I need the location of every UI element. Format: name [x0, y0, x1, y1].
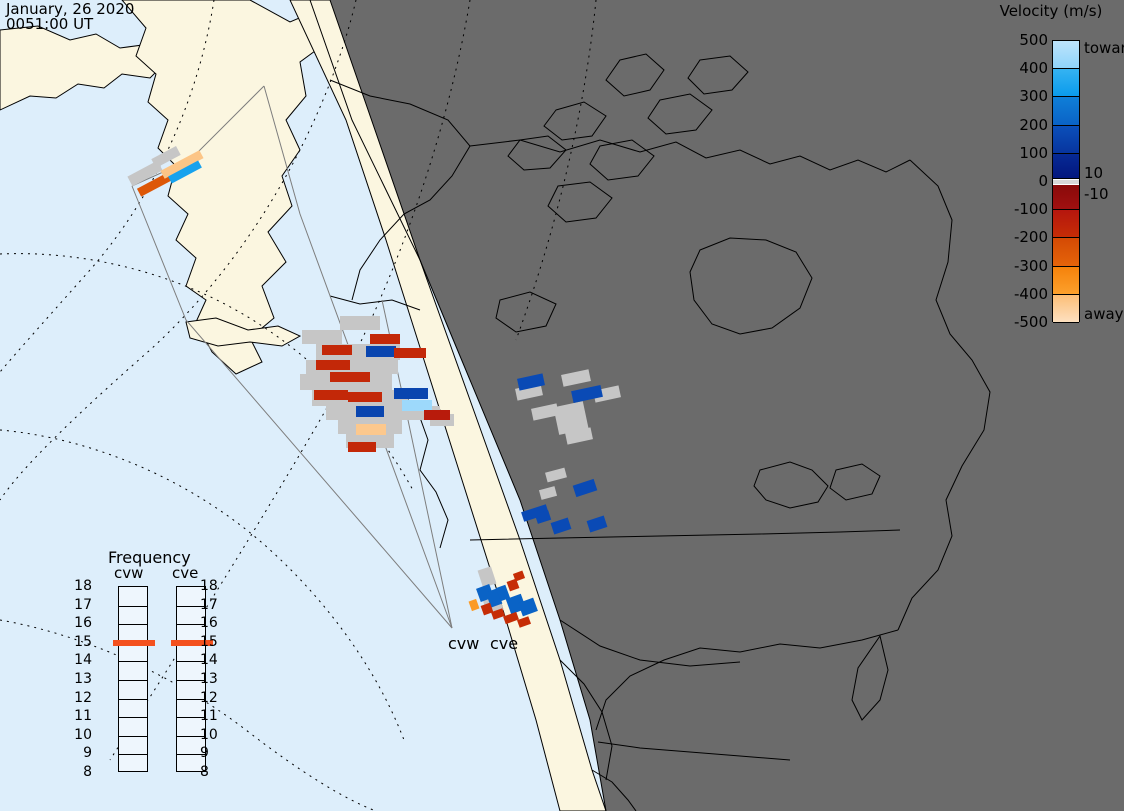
frequency-tick: 15: [200, 634, 218, 650]
frequency-tick: 14: [0, 652, 92, 668]
colorbar-tick-labels: 5004003002001000-100-200-300-400-500: [986, 0, 1048, 811]
colorbar-tick: 300: [1019, 87, 1048, 105]
frequency-bar-cvw: [118, 586, 148, 772]
colorbar-tick: -500: [1014, 313, 1048, 331]
velocity-cell: [402, 400, 432, 411]
frequency-tick: 17: [200, 597, 218, 613]
colorbar-segment: [1053, 126, 1079, 154]
frequency-bar-divider: [119, 717, 147, 718]
velocity-cell: [348, 392, 382, 402]
colorbar-side-labels: toward10-10away: [1084, 0, 1124, 811]
velocity-cell: [424, 410, 450, 420]
colorbar-segment: [1053, 41, 1079, 69]
timestamp-time: 0051:00 UT: [6, 17, 93, 32]
frequency-tick: 16: [0, 615, 92, 631]
colorbar-away-label: away: [1084, 305, 1124, 323]
frequency-tick: 10: [0, 727, 92, 743]
frequency-tick: 8: [200, 764, 209, 780]
frequency-bar-divider: [119, 699, 147, 700]
colorbar-segment: [1053, 97, 1079, 125]
colorbar-segment: [1053, 238, 1079, 266]
frequency-bar-divider: [119, 754, 147, 755]
colorbar-segment: [1053, 69, 1079, 97]
frequency-bar-divider: [119, 624, 147, 625]
colorbar-tick: -100: [1014, 200, 1048, 218]
velocity-cell: [366, 346, 396, 357]
colorbar-inner-positive-label: 10: [1084, 164, 1103, 182]
colorbar-zero-band: [1053, 179, 1079, 185]
colorbar-tick: 100: [1019, 144, 1048, 162]
colorbar-segment: [1053, 267, 1079, 295]
frequency-tick: 17: [0, 597, 92, 613]
frequency-tick: 8: [0, 764, 92, 780]
colorbar-segment: [1053, 210, 1079, 238]
colorbar-tick: 500: [1019, 31, 1048, 49]
frequency-bar-divider: [119, 606, 147, 607]
colorbar-segment: [1053, 295, 1079, 323]
frequency-tick: 18: [0, 578, 92, 594]
frequency-bar-name-cvw: cvw: [114, 564, 143, 582]
frequency-tick: 9: [200, 745, 209, 761]
map-canvas: [0, 0, 1124, 811]
frequency-tick: 16: [200, 615, 218, 631]
colorbar-tick: 0: [1038, 172, 1048, 190]
frequency-tick: 13: [200, 671, 218, 687]
colorbar-inner-negative-label: -10: [1084, 185, 1109, 203]
ground-scatter-cell: [340, 316, 380, 330]
colorbar-segment: [1053, 185, 1079, 210]
site-label-cvw: cvw: [448, 634, 479, 653]
frequency-bar-divider: [119, 661, 147, 662]
colorbar-tick: 200: [1019, 116, 1048, 134]
frequency-tick: 12: [0, 690, 92, 706]
velocity-cell: [348, 442, 376, 452]
frequency-tick: 12: [200, 690, 218, 706]
colorbar-tick: -400: [1014, 285, 1048, 303]
colorbar-segment: [1053, 154, 1079, 179]
frequency-tick: 13: [0, 671, 92, 687]
frequency-tick: 14: [200, 652, 218, 668]
frequency-marker-cvw: [113, 640, 155, 646]
frequency-tick: 10: [200, 727, 218, 743]
frequency-tick: 11: [0, 708, 92, 724]
velocity-cell: [356, 424, 386, 435]
colorbar-tick: -300: [1014, 257, 1048, 275]
site-label-cve: cve: [490, 634, 518, 653]
frequency-bar-divider: [119, 736, 147, 737]
frequency-bar-name-cve: cve: [172, 564, 198, 582]
frequency-tick: 11: [200, 708, 218, 724]
velocity-cell: [316, 360, 350, 370]
velocity-cell: [314, 390, 348, 400]
radar-map-figure: January, 26 2020 0051:00 UT cvwcve Veloc…: [0, 0, 1124, 811]
colorbar-tick: -200: [1014, 228, 1048, 246]
velocity-cell: [330, 372, 370, 382]
frequency-tick: 15: [0, 634, 92, 650]
velocity-cell: [394, 388, 428, 399]
velocity-cell: [394, 348, 426, 358]
colorbar-tick: 400: [1019, 59, 1048, 77]
ground-scatter-cell: [302, 330, 342, 344]
frequency-tick: 9: [0, 745, 92, 761]
frequency-bar-divider: [119, 680, 147, 681]
velocity-cell: [356, 406, 384, 417]
velocity-colorbar: [1052, 40, 1080, 322]
colorbar-toward-label: toward: [1084, 39, 1124, 57]
velocity-cell: [370, 334, 400, 344]
frequency-tick: 18: [200, 578, 218, 594]
velocity-cell: [322, 345, 352, 355]
